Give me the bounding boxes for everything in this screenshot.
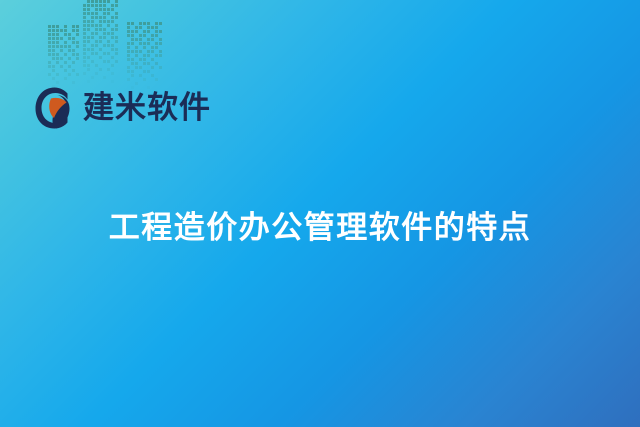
banner-canvas: 建米软件 工程造价办公管理软件的特点 (0, 0, 640, 427)
page-title: 工程造价办公管理软件的特点 (109, 209, 532, 248)
headline-container: 工程造价办公管理软件的特点 (0, 188, 640, 268)
pixel-skyline-decoration (45, 0, 175, 90)
jianmi-leaf-mark-icon (34, 86, 76, 130)
brand-logo: 建米软件 (34, 86, 211, 130)
brand-wordmark: 建米软件 (83, 93, 211, 124)
